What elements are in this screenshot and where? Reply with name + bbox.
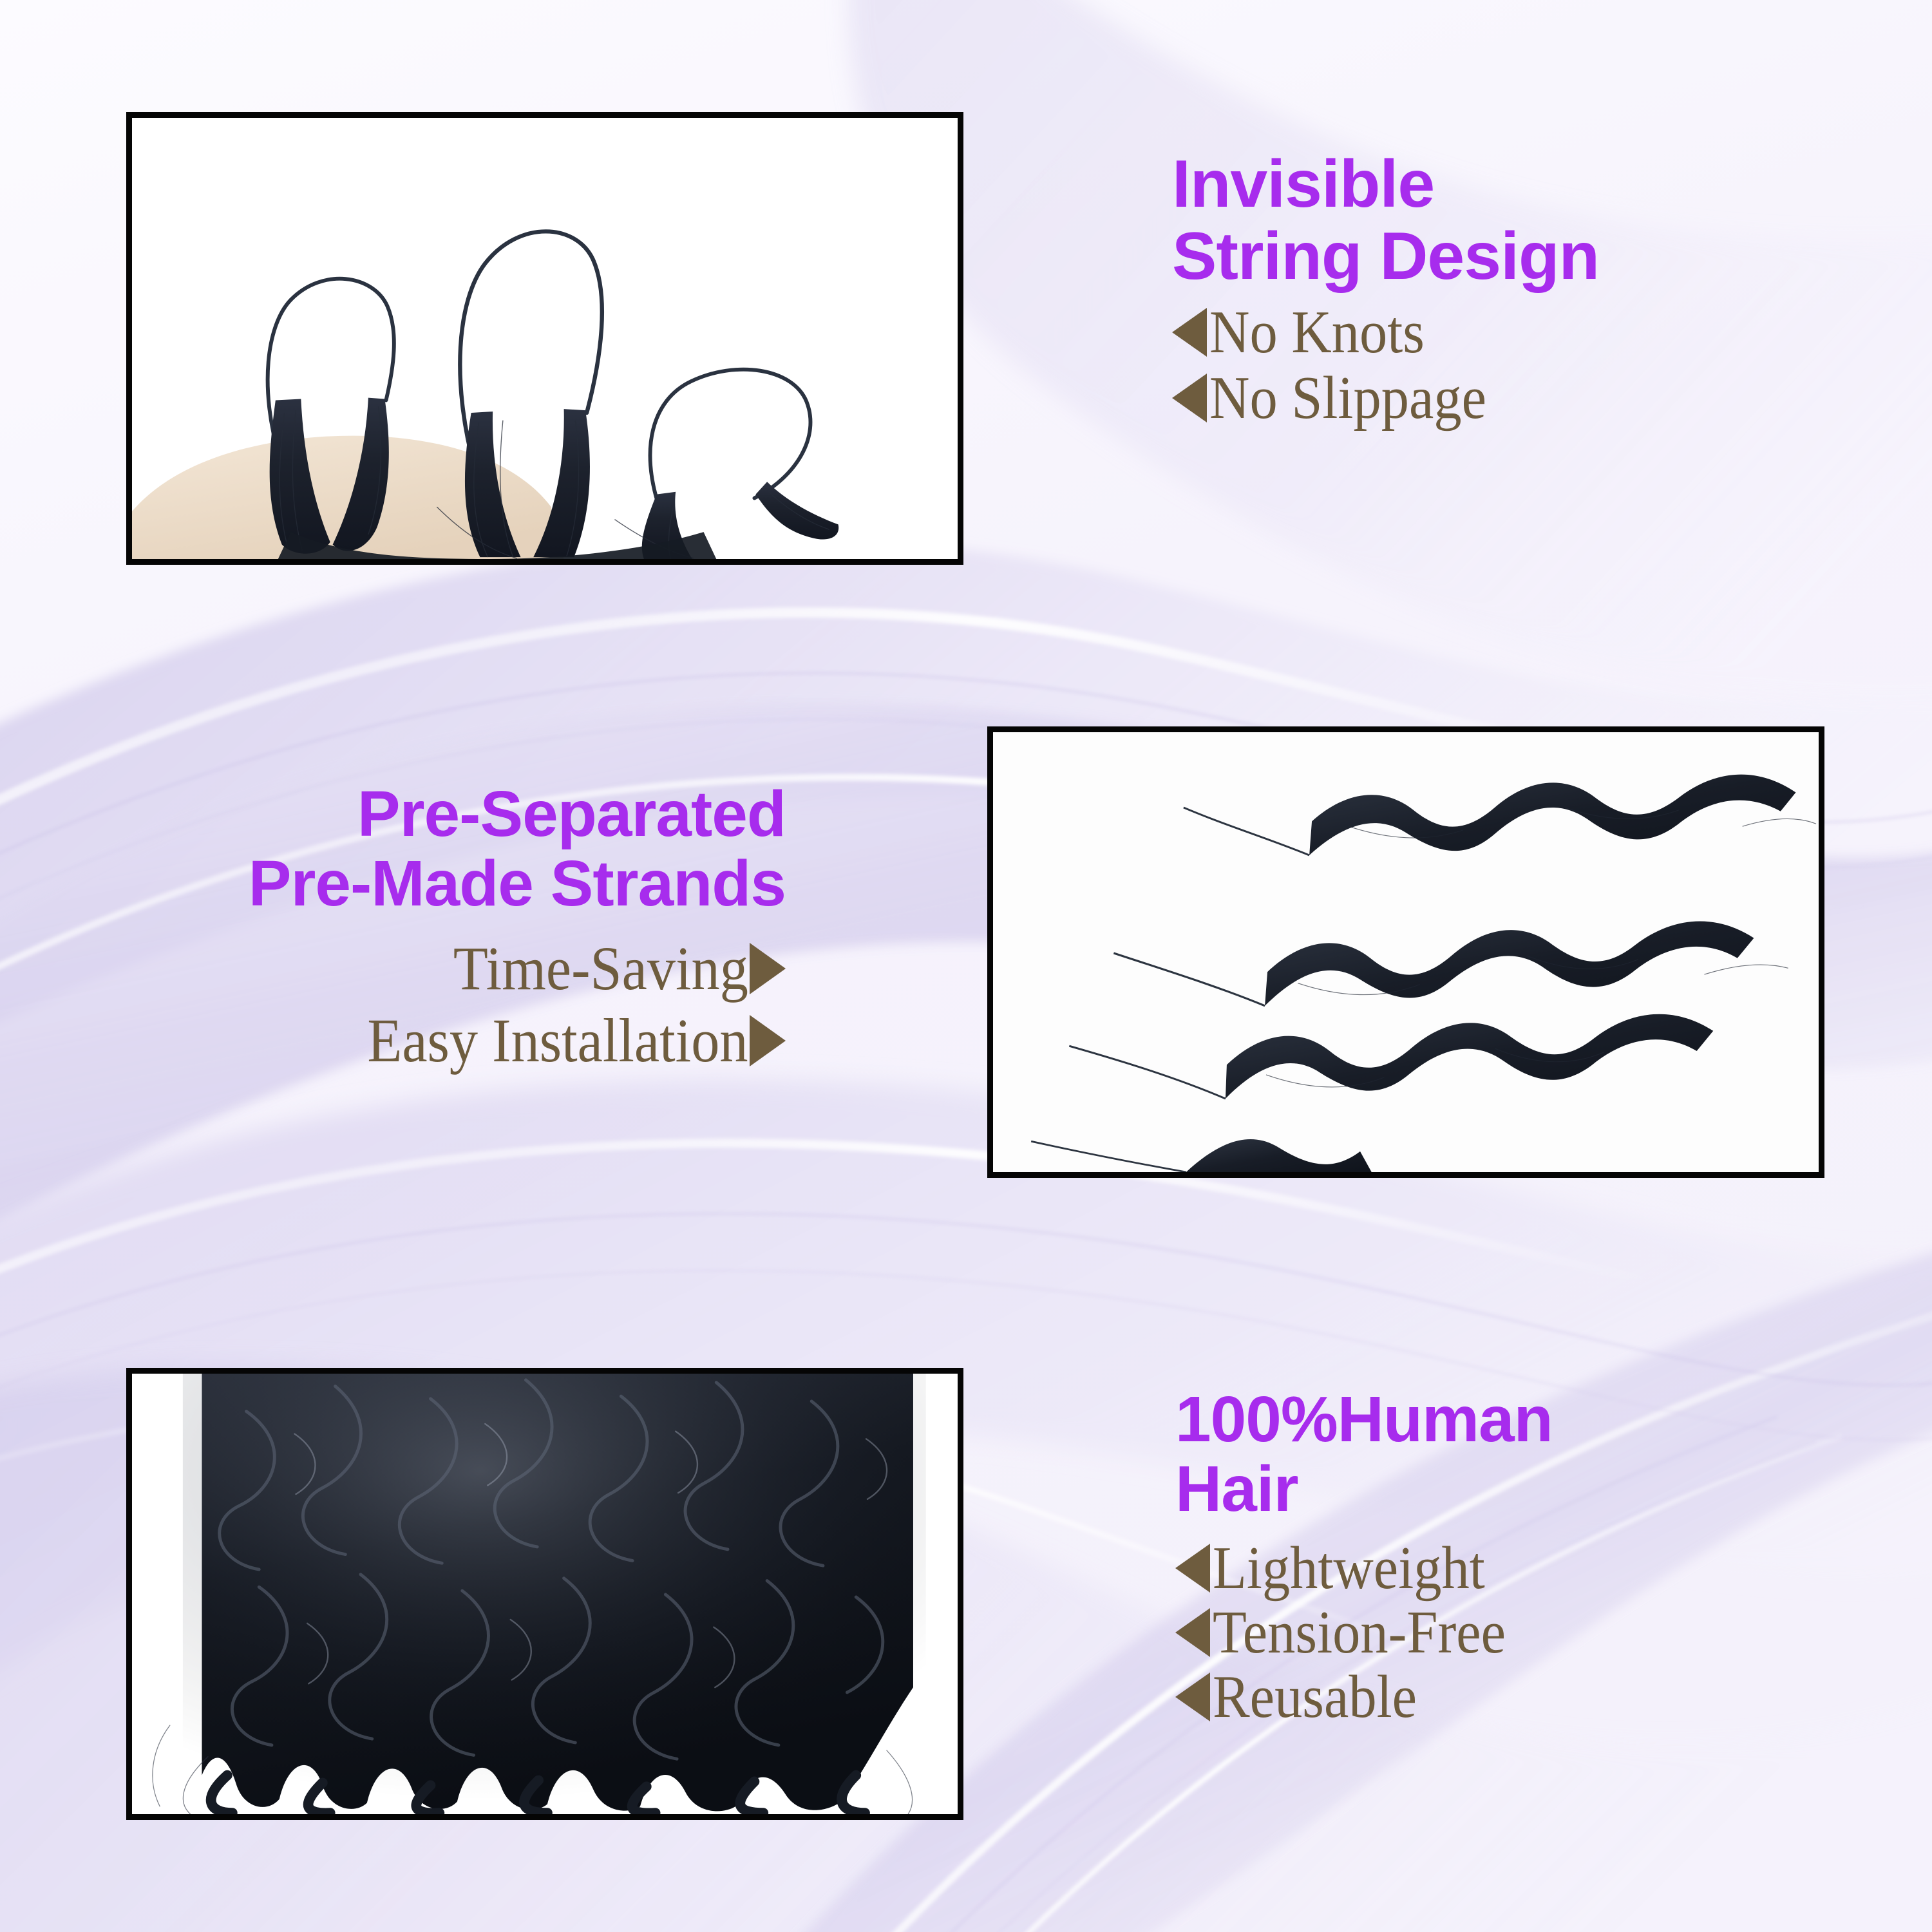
photo-curly-hair-illustration [132, 1374, 958, 1814]
bullet-tension-free: Tension-Free [1175, 1602, 1871, 1663]
heading-100-percent-human-hair: 100%Human Hair [1175, 1385, 1871, 1524]
bullet-label: Tension-Free [1213, 1602, 1506, 1663]
feature-block-invisible-string-design: Invisible String Design No Knots No Slip… [1172, 148, 1868, 433]
bullet-label: Reusable [1213, 1667, 1417, 1727]
infographic-page: Invisible String Design No Knots No Slip… [0, 0, 1932, 1932]
triangle-left-icon [1172, 308, 1207, 357]
photo-wavy-strands [987, 726, 1824, 1178]
photo-invisible-strings [126, 112, 963, 565]
bullet-label: Easy Installation [368, 1010, 748, 1072]
bullet-reusable: Reusable [1175, 1667, 1871, 1727]
triangle-left-icon [1175, 1608, 1210, 1657]
bullet-label: Time-Saving [453, 938, 748, 999]
triangle-left-icon [1175, 1544, 1210, 1593]
bullet-easy-installation: Easy Installation [77, 1010, 786, 1072]
bullet-time-saving: Time-Saving [77, 938, 786, 999]
photo-curly-hair [126, 1368, 963, 1820]
bullet-no-slippage: No Slippage [1172, 368, 1868, 428]
triangle-right-icon [750, 943, 786, 994]
triangle-left-icon [1172, 374, 1207, 422]
feature-block-pre-separated-strands: Pre-Separated Pre-Made Strands Time-Savi… [77, 779, 786, 1082]
feature-block-100-percent-human-hair: 100%Human Hair Lightweight Tension-Free … [1175, 1385, 1871, 1731]
bullet-no-knots: No Knots [1172, 302, 1868, 363]
triangle-left-icon [1175, 1672, 1210, 1721]
photo-invisible-strings-illustration [132, 118, 958, 559]
bullet-label: Lightweight [1213, 1538, 1485, 1598]
heading-invisible-string-design: Invisible String Design [1172, 148, 1868, 293]
bullet-lightweight: Lightweight [1175, 1538, 1871, 1598]
bullet-label: No Knots [1209, 302, 1425, 363]
bullet-list-human-hair: Lightweight Tension-Free Reusable [1175, 1538, 1871, 1727]
bullet-list-invisible-string-design: No Knots No Slippage [1172, 302, 1868, 428]
bullet-list-pre-separated-strands: Time-Saving Easy Installation [77, 938, 786, 1072]
photo-wavy-strands-illustration [993, 732, 1819, 1172]
triangle-right-icon [750, 1015, 786, 1066]
heading-pre-separated-pre-made-strands: Pre-Separated Pre-Made Strands [77, 779, 786, 918]
bullet-label: No Slippage [1209, 368, 1486, 428]
